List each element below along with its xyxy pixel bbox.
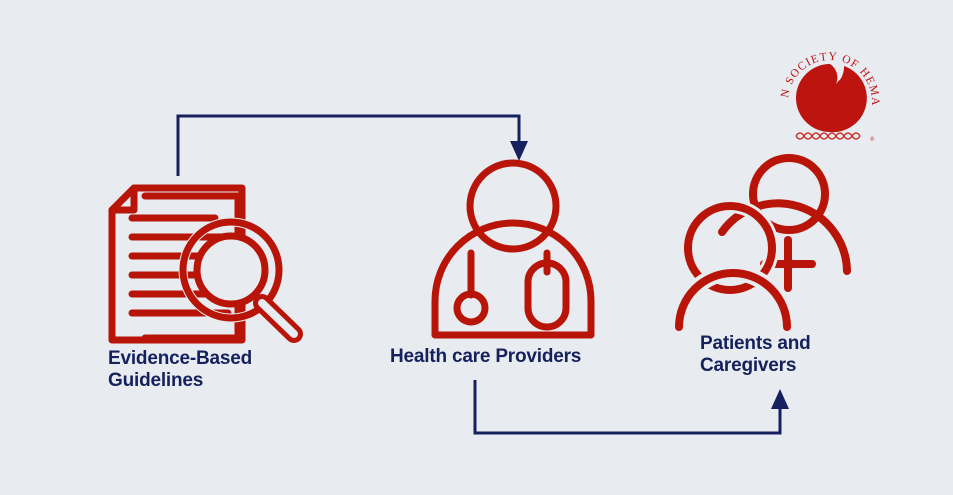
patient-shoulders-halo bbox=[679, 273, 787, 327]
node-label-guidelines: Evidence-Based Guidelines bbox=[108, 348, 338, 392]
node-label-patients: Patients and Caregivers bbox=[700, 333, 880, 377]
logo-circle-large bbox=[835, 78, 857, 100]
logo-circle-small bbox=[846, 115, 856, 125]
logo-chain-ornament bbox=[796, 133, 860, 139]
logo-circle-medium bbox=[843, 99, 857, 113]
diagram-canvas: Evidence-Based Guidelines Health care Pr… bbox=[0, 0, 953, 495]
logo-svg: AMERICAN SOCIETY OF HEMATOLOGY ® bbox=[770, 40, 890, 160]
node-label-providers: Health care Providers bbox=[390, 346, 620, 368]
american-society-of-hematology-logo: AMERICAN SOCIETY OF HEMATOLOGY ® bbox=[770, 40, 890, 160]
logo-main-blob bbox=[796, 64, 867, 132]
logo-registered-mark: ® bbox=[870, 136, 875, 143]
